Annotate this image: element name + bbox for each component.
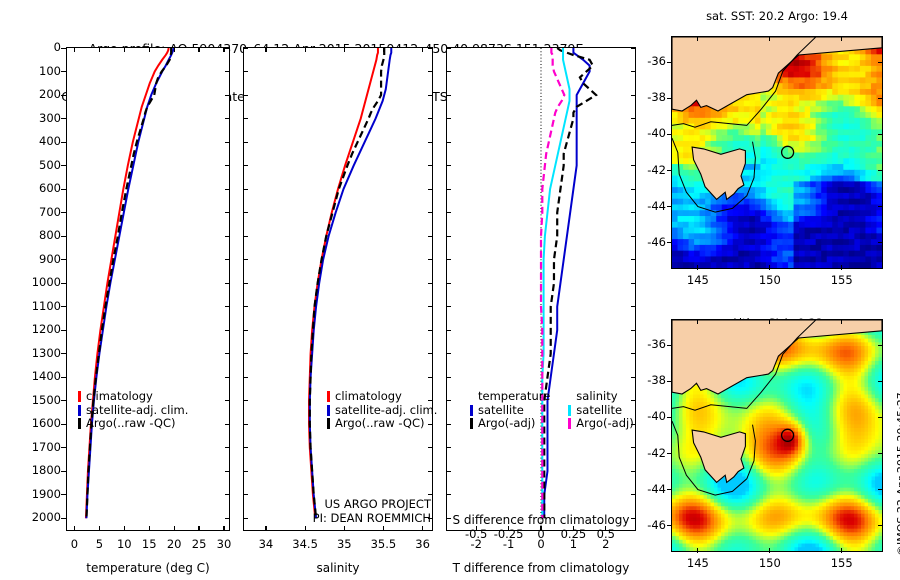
map-cell: [854, 350, 858, 354]
map-cell: [872, 436, 876, 440]
map-cell: [791, 365, 795, 369]
map-cell: [802, 391, 806, 395]
map-cell: [725, 421, 729, 425]
map-cell: [854, 124, 860, 130]
map-cell: [714, 424, 718, 428]
map-cell: [725, 521, 729, 525]
map-cell: [760, 406, 764, 410]
map-cell: [672, 233, 678, 239]
map-cell: [861, 439, 865, 443]
map-cell: [791, 417, 795, 421]
map-cell: [812, 417, 816, 421]
map-cell: [756, 465, 760, 469]
map-cell: [816, 495, 820, 499]
map-cell: [767, 510, 771, 514]
map-cell: [851, 447, 855, 451]
map-cell: [693, 476, 697, 480]
map-cell: [694, 239, 700, 245]
map-cell: [860, 101, 866, 107]
map-cell: [840, 391, 844, 395]
map-cell: [784, 395, 788, 399]
map-cell: [826, 428, 830, 432]
map-cell: [872, 421, 876, 425]
legend-label: Argo(..raw -QC): [335, 417, 425, 431]
map-cell: [690, 529, 694, 533]
map-cell: [816, 101, 822, 107]
map-cell: [832, 129, 838, 135]
map-cell: [858, 387, 862, 391]
map-cell: [777, 251, 783, 257]
map-cell: [840, 499, 844, 503]
map-cell: [756, 491, 760, 495]
map-cell: [770, 506, 774, 510]
map-cell: [795, 484, 799, 488]
panel-salinity[interactable]: [243, 47, 433, 531]
map-cell: [837, 350, 841, 354]
map-cell: [707, 488, 711, 492]
map-cell: [760, 413, 764, 417]
map-cell: [732, 421, 736, 425]
map-cell: [821, 141, 827, 147]
map-cell: [876, 176, 882, 182]
map-cell: [749, 491, 753, 495]
map-cell: [830, 342, 834, 346]
map-cell: [854, 424, 858, 428]
map-cell: [795, 517, 799, 521]
map-cell: [700, 525, 704, 529]
map-cell: [774, 436, 778, 440]
map-cell: [854, 503, 858, 507]
map-cell: [760, 473, 764, 477]
map-cell: [851, 443, 855, 447]
map-cell: [879, 395, 883, 399]
map-cell: [679, 510, 683, 514]
map-cell: [844, 454, 848, 458]
map-cell: [791, 503, 795, 507]
map-cell: [700, 193, 706, 199]
map-cell: [812, 469, 816, 473]
map-cell: [746, 488, 750, 492]
map-cell: [704, 480, 708, 484]
map-cell: [816, 421, 820, 425]
map-cell: [755, 233, 761, 239]
map-cell: [847, 525, 851, 529]
map-cell: [805, 72, 811, 78]
map-cell: [683, 495, 687, 499]
map-cell: [686, 413, 690, 417]
map-cell: [858, 517, 862, 521]
map-cell: [774, 517, 778, 521]
panel-difference[interactable]: [446, 47, 636, 531]
map-cell: [843, 228, 849, 234]
map-cell: [816, 488, 820, 492]
map-cell: [678, 245, 684, 251]
map-cell: [875, 339, 879, 343]
map-cell: [816, 510, 820, 514]
map-cell: [826, 436, 830, 440]
map-cell: [844, 525, 848, 529]
map-cell: [753, 499, 757, 503]
map-cell: [767, 506, 771, 510]
map-cell: [721, 409, 725, 413]
map-cell: [749, 480, 753, 484]
map-cell: [872, 383, 876, 387]
map-cell: [749, 473, 753, 477]
map-cell: [756, 428, 760, 432]
map-cell: [755, 158, 761, 164]
map-cell: [795, 491, 799, 495]
map-cell: [711, 413, 715, 417]
map-cell: [809, 409, 813, 413]
map-cell: [766, 158, 772, 164]
map-cell: [788, 421, 792, 425]
map-cell: [678, 222, 684, 228]
map-cell: [875, 357, 879, 361]
map-cell: [683, 262, 689, 268]
map-cell: [739, 391, 743, 395]
map-cell: [840, 469, 844, 473]
map-cell: [872, 458, 876, 462]
map-cell: [746, 421, 750, 425]
map-cell: [795, 368, 799, 372]
map-cell: [766, 222, 772, 228]
map-cell: [847, 517, 851, 521]
map-cell: [868, 342, 872, 346]
map-cell: [879, 376, 883, 380]
map-cell: [700, 402, 704, 406]
map-cell: [802, 383, 806, 387]
map-cell: [832, 222, 838, 228]
legend-swatch: [78, 391, 81, 402]
map-cell: [854, 443, 858, 447]
map-cell: [794, 112, 800, 118]
map-cell: [733, 239, 739, 245]
map-cell: [861, 510, 865, 514]
map-cell: [879, 331, 883, 335]
map-cell: [876, 77, 882, 83]
map-cell: [830, 432, 834, 436]
map-cell: [875, 432, 879, 436]
map-cell: [844, 406, 848, 410]
map-cell: [872, 417, 876, 421]
map-cell: [770, 495, 774, 499]
map-cell: [840, 480, 844, 484]
map-cell: [812, 368, 816, 372]
map-cell: [851, 521, 855, 525]
map-cell: [742, 514, 746, 518]
map-cell: [771, 129, 777, 135]
map-cell: [805, 118, 811, 124]
map-cell: [794, 233, 800, 239]
map-cell: [732, 514, 736, 518]
map-cell: [732, 398, 736, 402]
map-cell: [727, 245, 733, 251]
sla-map[interactable]: [671, 319, 883, 552]
map-cell: [766, 135, 772, 141]
map-cell: [843, 170, 849, 176]
map-cell: [700, 491, 704, 495]
map-cell: [686, 398, 690, 402]
map-cell: [875, 368, 879, 372]
map-cell: [858, 391, 862, 395]
map-cell: [763, 421, 767, 425]
map-cell: [770, 473, 774, 477]
map-cell: [683, 112, 689, 118]
map-cell: [766, 118, 772, 124]
map-cell: [847, 480, 851, 484]
map-cell: [774, 514, 778, 518]
map-cell: [816, 129, 822, 135]
map-cell: [755, 176, 761, 182]
map-cell: [733, 262, 739, 268]
map-cell: [756, 495, 760, 499]
map-cell: [851, 383, 855, 387]
map-cell: [840, 488, 844, 492]
map-cell: [849, 187, 855, 193]
map-cell: [849, 147, 855, 153]
map-cell: [854, 398, 858, 402]
map-cell: [826, 499, 830, 503]
map-cell: [753, 476, 757, 480]
map-cell: [794, 158, 800, 164]
map-cell: [744, 239, 750, 245]
map-cell: [847, 458, 851, 462]
map-cell: [683, 450, 687, 454]
map-cell: [858, 495, 862, 499]
map-cell: [770, 421, 774, 425]
map-cell: [805, 89, 811, 95]
series-satellite-adj-clim-: [86, 48, 173, 518]
map-cell: [763, 395, 767, 399]
map-cell: [774, 506, 778, 510]
map-cell: [763, 432, 767, 436]
map-cell: [672, 462, 676, 466]
map-cell: [733, 228, 739, 234]
map-cell: [686, 436, 690, 440]
map-cell: [805, 158, 811, 164]
map-cell: [879, 432, 883, 436]
map-cell: [843, 83, 849, 89]
map-cell: [679, 428, 683, 432]
map-cell: [755, 228, 761, 234]
map-cell: [728, 514, 732, 518]
map-cell: [749, 484, 753, 488]
map-cell: [805, 193, 811, 199]
map-cell: [711, 395, 715, 399]
map-cell: [854, 77, 860, 83]
map-cell: [858, 454, 862, 458]
map-cell: [711, 506, 715, 510]
map-cell: [791, 484, 795, 488]
map-cell: [823, 462, 827, 466]
map-cell: [871, 245, 877, 251]
map-cell: [810, 204, 816, 210]
map-cell: [679, 488, 683, 492]
map-cell: [809, 395, 813, 399]
map-cell: [679, 439, 683, 443]
map-cell: [774, 443, 778, 447]
map-cell: [854, 432, 858, 436]
map-cell: [849, 66, 855, 72]
map-cell: [821, 181, 827, 187]
map-cell: [716, 204, 722, 210]
map-cell: [707, 417, 711, 421]
map-cell: [693, 413, 697, 417]
map-cell: [875, 395, 879, 399]
map-cell: [861, 342, 865, 346]
map-cell: [872, 354, 876, 358]
map-cell: [823, 443, 827, 447]
map-cell: [851, 421, 855, 425]
map-cell: [861, 409, 865, 413]
map-cell: [704, 525, 708, 529]
map-cell: [805, 372, 809, 376]
map-cell: [794, 181, 800, 187]
map-cell: [714, 488, 718, 492]
map-cell: [798, 424, 802, 428]
map-cell: [849, 193, 855, 199]
map-cell: [812, 525, 816, 529]
map-cell: [816, 443, 820, 447]
map-cell: [770, 517, 774, 521]
map-cell: [810, 245, 816, 251]
map-cell: [771, 181, 777, 187]
map-cell: [810, 129, 816, 135]
map-cell: [794, 164, 800, 170]
map-cell: [805, 129, 811, 135]
map-cell: [774, 406, 778, 410]
map-cell: [809, 391, 813, 395]
legend-label: Argo(..raw -QC): [86, 417, 176, 431]
map-cell: [876, 54, 882, 60]
map-cell: [871, 233, 877, 239]
map-cell: [827, 262, 833, 268]
map-cell: [705, 239, 711, 245]
map-cell: [875, 391, 879, 395]
map-cell: [879, 473, 883, 477]
map-cell: [819, 484, 823, 488]
map-cell: [833, 417, 837, 421]
map-cell: [697, 480, 701, 484]
map-cell: [844, 380, 848, 384]
map-cell: [732, 484, 736, 488]
map-cell: [711, 251, 717, 257]
map-cell: [784, 413, 788, 417]
map-cell: [854, 256, 860, 262]
map-cell: [714, 517, 718, 521]
map-cell: [781, 525, 785, 529]
map-cell: [844, 346, 848, 350]
map-cell: [767, 402, 771, 406]
map-cell: [798, 376, 802, 380]
map-cell: [763, 424, 767, 428]
map-cell: [781, 514, 785, 518]
map-cell: [672, 521, 676, 525]
map-cell: [844, 488, 848, 492]
map-cell: [802, 436, 806, 440]
map-cell: [840, 339, 844, 343]
legend-swatch: [568, 405, 571, 416]
map-cell: [854, 480, 858, 484]
map-cell: [819, 473, 823, 477]
map-cell: [865, 476, 869, 480]
map-cell: [781, 529, 785, 533]
map-cell: [749, 106, 755, 112]
map-cell: [788, 118, 794, 124]
map-cell: [871, 66, 877, 72]
panel-temperature[interactable]: [66, 47, 230, 531]
map-cell: [816, 521, 820, 525]
map-cell: [821, 118, 827, 124]
sst-map-title: sat. SST: 20.2 Argo: 19.4: [666, 9, 888, 23]
map-cell: [721, 484, 725, 488]
map-cell: [840, 395, 844, 399]
map-cell: [865, 469, 869, 473]
map-cell: [711, 488, 715, 492]
sst-map[interactable]: [671, 36, 883, 269]
map-cell: [854, 517, 858, 521]
map-cell: [879, 439, 883, 443]
map-cell: [843, 89, 849, 95]
map-cell: [823, 439, 827, 443]
map-cell: [875, 506, 879, 510]
map-cell: [672, 181, 678, 187]
map-cell: [676, 503, 680, 507]
map-cell: [777, 465, 781, 469]
map-cell: [697, 499, 701, 503]
map-cell: [783, 106, 789, 112]
map-cell: [821, 262, 827, 268]
map-cell: [860, 112, 866, 118]
map-cell: [777, 89, 783, 95]
map-cell: [711, 222, 717, 228]
map-cell: [783, 228, 789, 234]
map-cell: [875, 462, 879, 466]
map-cell: [837, 480, 841, 484]
map-cell: [854, 391, 858, 395]
map-cell: [816, 357, 820, 361]
map-cell: [718, 413, 722, 417]
map-cell: [832, 72, 838, 78]
map-cell: [732, 495, 736, 499]
map-cell: [739, 398, 743, 402]
map-cell: [854, 335, 858, 339]
map-cell: [861, 447, 865, 451]
map-cell: [871, 158, 877, 164]
map-cell: [849, 83, 855, 89]
map-cell: [679, 424, 683, 428]
map-cell: [809, 372, 813, 376]
map-cell: [798, 503, 802, 507]
map-cell: [744, 262, 750, 268]
map-cell: [809, 428, 813, 432]
map-cell: [832, 193, 838, 199]
map-cell: [749, 458, 753, 462]
map-cell: [777, 514, 781, 518]
map-cell: [794, 216, 800, 222]
map-cell: [672, 514, 676, 518]
map-cell: [735, 395, 739, 399]
map-cell: [783, 124, 789, 130]
map-cell: [847, 372, 851, 376]
map-cell: [756, 383, 760, 387]
map-cell: [865, 514, 869, 518]
map-cell: [865, 510, 869, 514]
map-cell: [832, 170, 838, 176]
map-cell: [802, 480, 806, 484]
map-cell: [844, 469, 848, 473]
map-cell: [704, 476, 708, 480]
